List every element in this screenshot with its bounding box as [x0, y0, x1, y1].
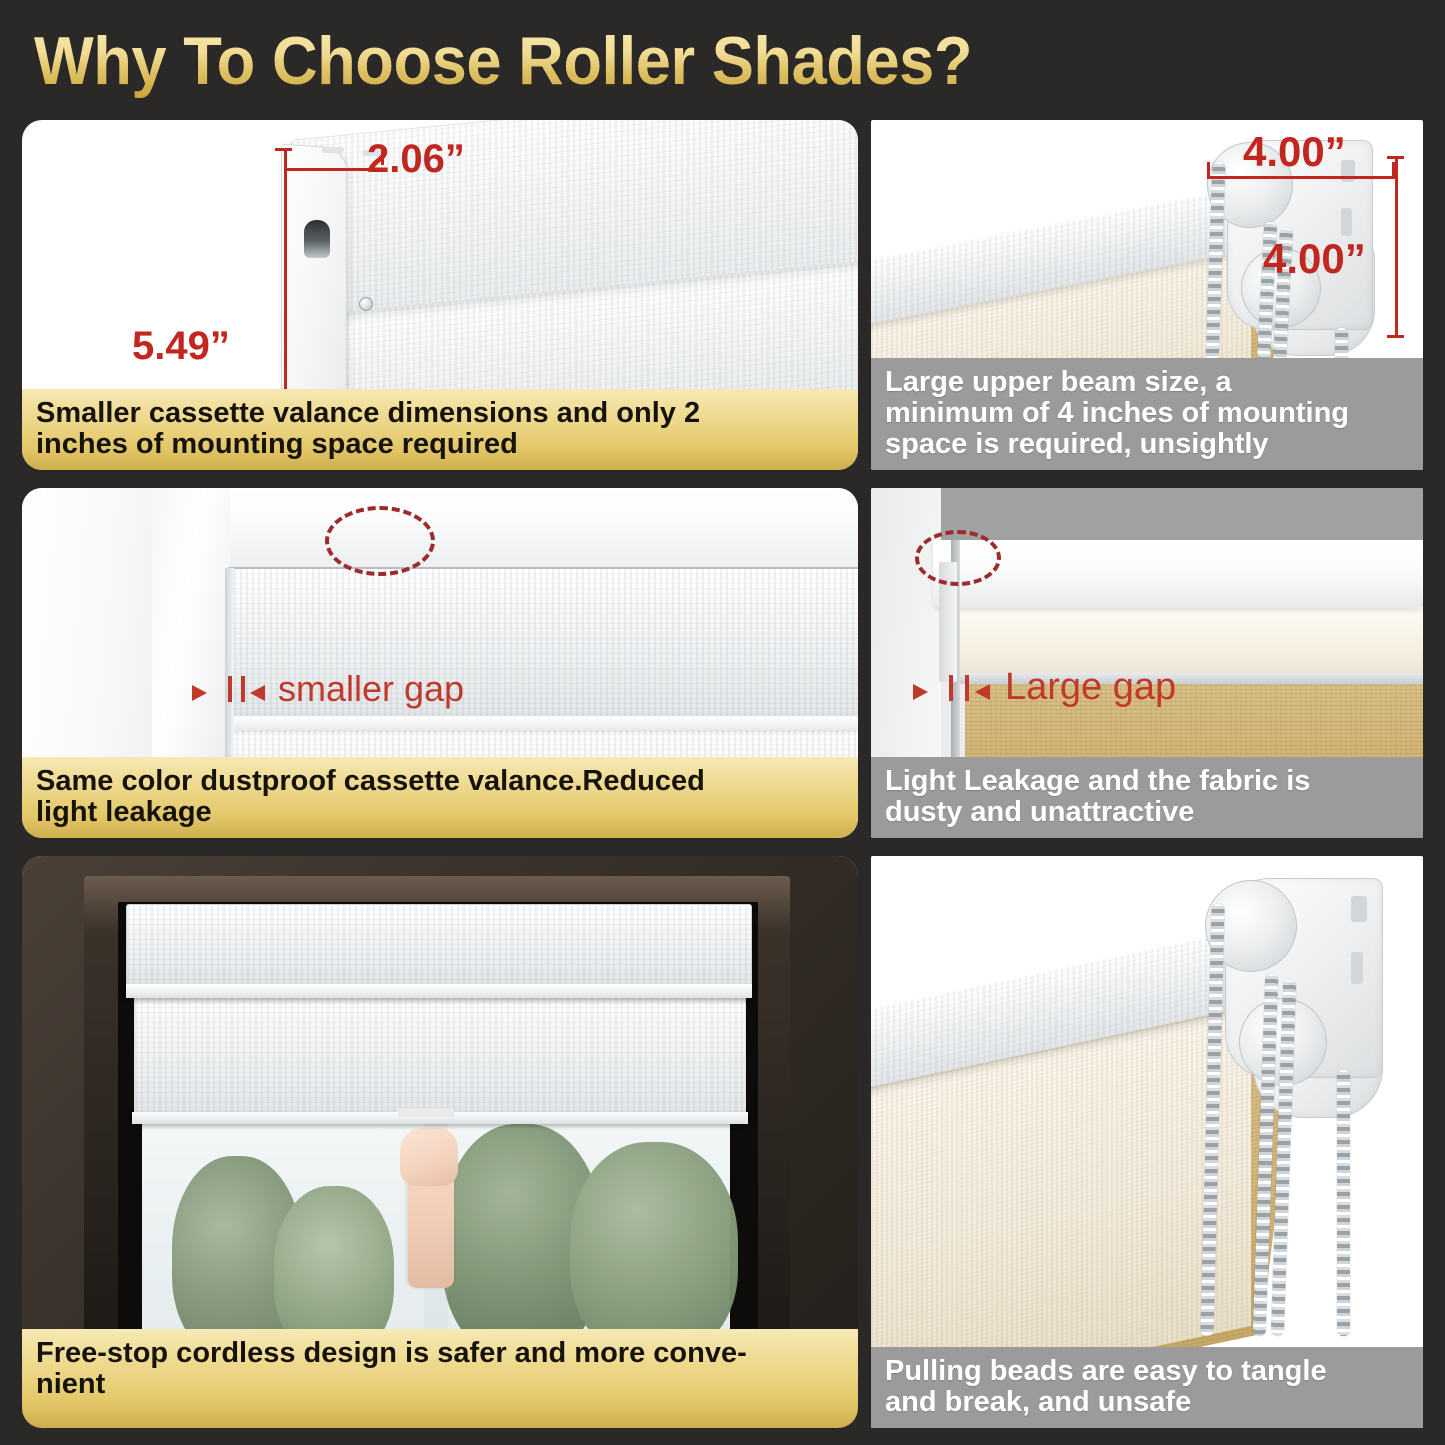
beam-width-label: 4.00” [1243, 128, 1346, 176]
panel-cordless-design: Free-stop cordless design is safer and m… [22, 856, 858, 1428]
caption-line-1: Smaller cassette valance dimensions and … [36, 398, 844, 429]
brand-tag [398, 1108, 454, 1117]
gap-callout-label: smaller gap [278, 668, 464, 710]
gap-highlight-ellipse [325, 506, 435, 576]
head-rail [933, 540, 1423, 608]
panel-4-caption: Light Leakage and the fabric is dusty an… [871, 757, 1423, 838]
gap-arrow-left [913, 684, 928, 700]
mounting-tab-left [322, 147, 344, 153]
gap-callout-label: Large gap [1005, 666, 1176, 709]
panel-dustproof-cassette: smaller gap Same color dustproof cassett… [22, 488, 858, 838]
caption-line-2: nient [36, 1369, 844, 1400]
bracket-keyhole-lower [1341, 208, 1352, 236]
gap-arrow-right [975, 684, 990, 700]
panel-smaller-cassette: 2.06” 5.49” Smaller cassette valance dim… [22, 120, 858, 470]
header-bar: Why To Choose Roller Shades? [0, 0, 1445, 118]
panel-light-leakage: Large gap Light Leakage and the fabric i… [871, 488, 1423, 838]
height-dimension-label: 5.49” [132, 324, 230, 369]
beam-width-cap-left [1207, 162, 1210, 179]
page-title: Why To Choose Roller Shades? [34, 22, 972, 100]
end-cap-slot [304, 220, 330, 258]
valance-front [957, 606, 1423, 674]
caption-line-2: dusty and unattractive [885, 797, 1409, 828]
caption-line-1: Light Leakage and the fabric is [885, 766, 1409, 797]
shade-fabric [134, 996, 746, 1118]
hand-fist [400, 1128, 458, 1186]
panel-5-caption: Free-stop cordless design is safer and m… [22, 1329, 858, 1428]
bracket-keyhole-upper [1351, 896, 1367, 922]
caption-line-2: minimum of 4 inches of mounting [885, 398, 1409, 429]
gap-arrow-right [250, 685, 265, 701]
panel-1-caption: Smaller cassette valance dimensions and … [22, 389, 858, 470]
caption-line-1: Free-stop cordless design is safer and m… [36, 1338, 844, 1369]
gap-tick-left [949, 675, 953, 701]
beam-height-cap-bottom [1387, 335, 1404, 338]
panel-pulling-beads: Pulling beads are easy to tangle and bre… [871, 856, 1423, 1428]
gap-tick-right [241, 676, 245, 702]
bracket-keyhole-lower [1351, 952, 1363, 984]
cassette-valance [126, 904, 752, 986]
caption-line-1: Same color dustproof cassette valance.Re… [36, 766, 844, 797]
caption-line-2: light leakage [36, 797, 844, 828]
panel-6-caption: Pulling beads are easy to tangle and bre… [871, 1347, 1423, 1428]
wall-left [22, 488, 172, 788]
caption-line-1: Pulling beads are easy to tangle [885, 1356, 1409, 1387]
end-cap-screw-upper [359, 297, 373, 311]
caption-line-3: space is required, unsightly [885, 429, 1409, 460]
window-frame-top [152, 488, 858, 568]
beam-height-cap-top [1387, 156, 1404, 159]
gap-tick-left [228, 676, 232, 702]
beam-width-dimension-line [1207, 176, 1395, 179]
bead-chain-right [1337, 1070, 1350, 1336]
beam-height-dimension-line [1395, 156, 1398, 338]
panel-large-upper-beam: 4.00” 4.00” Large upper beam size, a min… [871, 120, 1423, 470]
gap-arrow-left [192, 685, 207, 701]
gap-tick-right [965, 675, 969, 701]
panel-2-caption: Large upper beam size, a minimum of 4 in… [871, 358, 1423, 470]
height-dimension-cap-top [275, 148, 292, 151]
gap-highlight-ellipse [915, 530, 1001, 586]
caption-line-2: inches of mounting space required [36, 429, 844, 460]
wall-left [871, 488, 941, 788]
valance-lip [126, 984, 752, 998]
panel-6-image [871, 856, 1423, 1428]
window-frame-left [152, 488, 230, 788]
width-dimension-label: 2.06” [367, 137, 465, 182]
cassette-lip [228, 716, 858, 730]
panel-3-caption: Same color dustproof cassette valance.Re… [22, 757, 858, 838]
caption-line-1: Large upper beam size, a [885, 367, 1409, 398]
beam-height-label: 4.00” [1263, 235, 1366, 283]
caption-line-2: and break, and unsafe [885, 1387, 1409, 1418]
